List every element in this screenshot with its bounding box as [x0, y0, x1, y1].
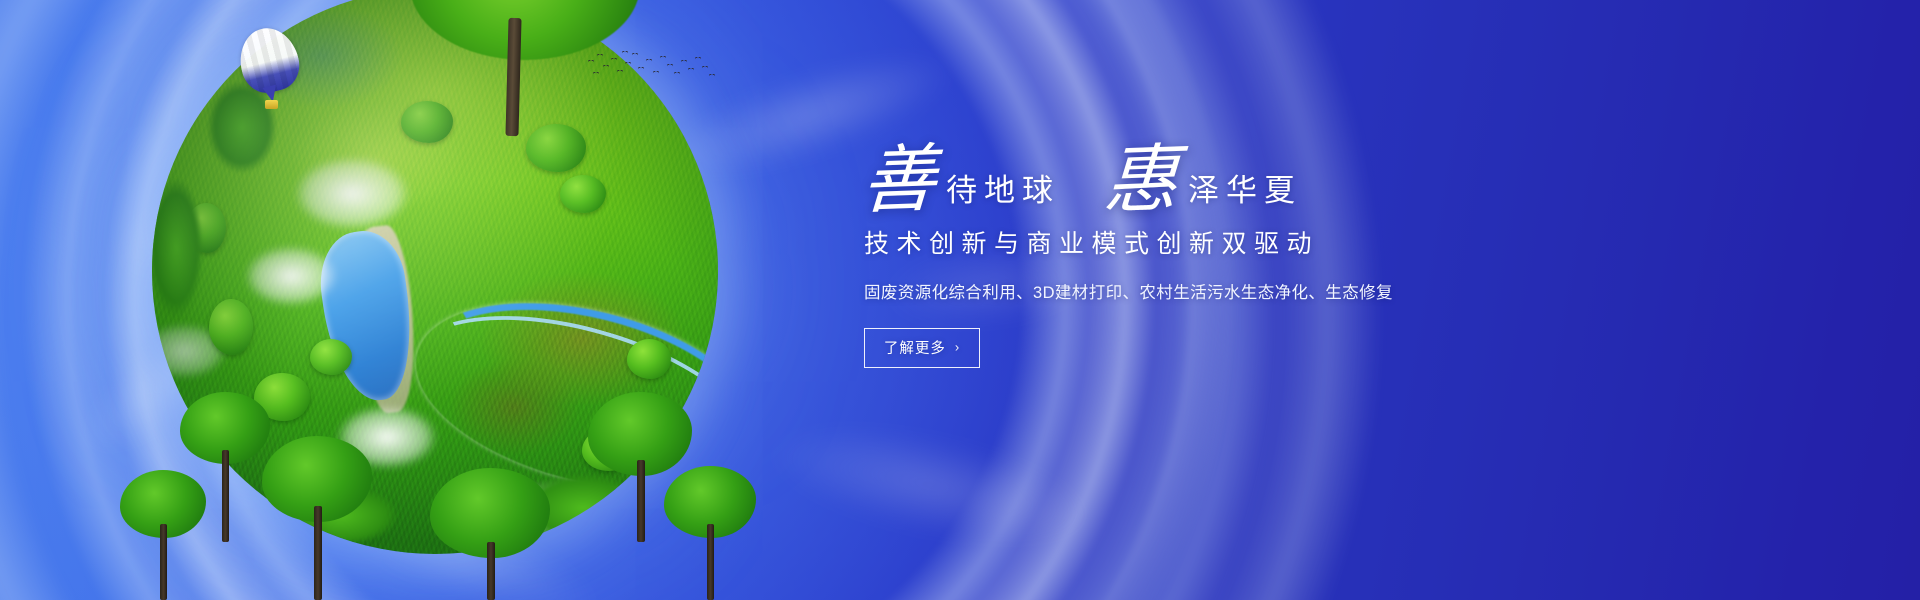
bird-icon: [646, 59, 652, 62]
page-title: 善 待地球 惠 泽华夏: [862, 126, 1562, 218]
foreground-tree: [430, 468, 550, 600]
tree-trunk: [707, 524, 714, 600]
balloon-basket: [265, 100, 278, 109]
hero-banner: 善 待地球 惠 泽华夏 技术创新与商业模式创新双驱动 固废资源化综合利用、3D建…: [0, 0, 1920, 600]
cloud-wisp: [692, 374, 1169, 597]
bird-icon: [622, 51, 628, 54]
hot-air-balloon-icon: [240, 28, 298, 112]
tree-trunk: [160, 524, 167, 600]
bird-icon: [597, 54, 603, 57]
foreground-tree: [262, 436, 372, 600]
bird-icon: [611, 58, 617, 61]
bird-icon: [709, 74, 715, 77]
bird-icon: [653, 71, 659, 74]
headline-accent-char-2: 惠: [1102, 143, 1184, 220]
bird-icon: [617, 70, 623, 73]
banner-content: 善 待地球 惠 泽华夏 技术创新与商业模式创新双驱动 固废资源化综合利用、3D建…: [862, 126, 1562, 368]
headline-text-1: 待地球: [940, 175, 1060, 218]
bird-icon: [593, 72, 599, 75]
headline-text-2: 泽华夏: [1182, 175, 1302, 218]
foreground-tree: [664, 466, 756, 600]
bird-icon: [681, 60, 687, 63]
chevron-right-icon: ›: [955, 340, 960, 355]
foreground-tree: [120, 470, 206, 600]
bird-icon: [674, 72, 680, 75]
learn-more-label: 了解更多: [884, 337, 946, 358]
bird-icon: [667, 64, 673, 67]
bird-icon: [588, 60, 594, 63]
bird-icon: [632, 53, 638, 56]
banner-subtitle: 技术创新与商业模式创新双驱动: [864, 232, 1562, 257]
bird-icon: [688, 68, 694, 71]
bird-icon: [695, 57, 701, 60]
bird-icon: [625, 62, 631, 65]
learn-more-button[interactable]: 了解更多 ›: [864, 328, 980, 368]
bird-icon: [603, 65, 609, 68]
tree-trunk: [487, 542, 495, 600]
tree-trunk: [314, 506, 322, 600]
bird-flock-icon: [586, 50, 716, 88]
tree-trunk: [505, 18, 521, 136]
headline-accent-char-1: 善: [860, 143, 942, 220]
banner-description: 固废资源化综合利用、3D建材打印、农村生活污水生态净化、生态修复: [864, 285, 1562, 302]
bird-icon: [660, 56, 666, 59]
bird-icon: [702, 66, 708, 69]
tree-trunk: [637, 460, 645, 542]
bird-icon: [638, 67, 644, 70]
tree-trunk: [222, 450, 229, 542]
